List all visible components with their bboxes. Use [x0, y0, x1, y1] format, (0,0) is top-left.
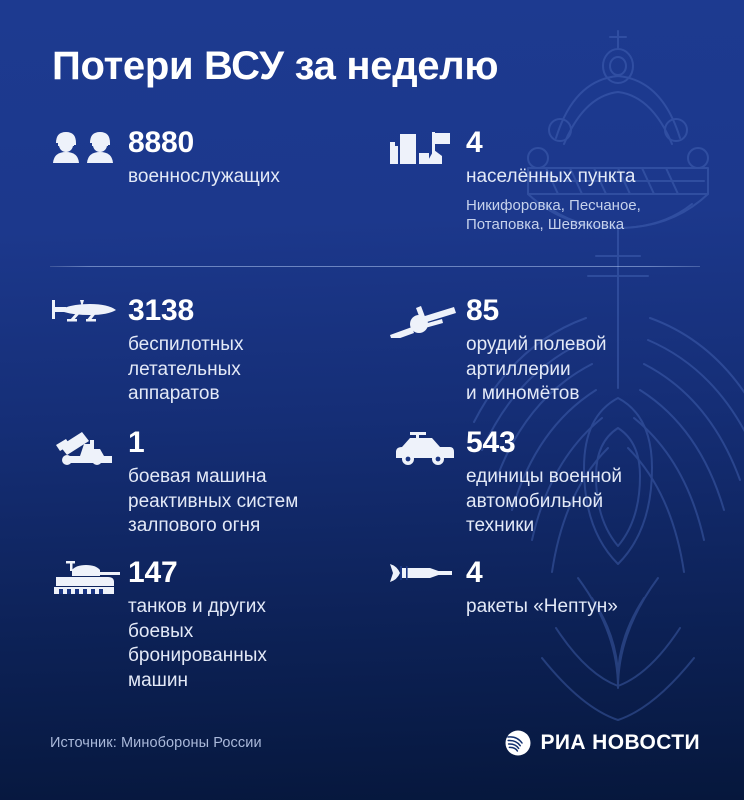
stat-text: 85 орудий полевой артиллерии и миномётов — [466, 296, 607, 407]
stat-vehicles: 543 единицы военной автомобильной техник… — [388, 428, 622, 539]
settlement-names: Никифоровка, Песчаное, Потаповка, Шевяко… — [466, 196, 641, 236]
tank-icon — [50, 558, 128, 598]
stat-value: 543 — [466, 428, 622, 458]
stat-label: танков и других боевых бронированных маш… — [128, 595, 267, 694]
stat-missiles: 4 ракеты «Нептун» — [388, 558, 618, 620]
stat-artillery: 85 орудий полевой артиллерии и миномётов — [388, 296, 607, 407]
two-soldiers-icon — [50, 128, 128, 164]
stat-label: военнослужащих — [128, 165, 280, 190]
page-title: Потери ВСУ за неделю — [52, 44, 498, 88]
stat-mlrs: 1 боевая машина реактивных систем залпов… — [50, 428, 298, 539]
stat-personnel: 8880 военнослужащих — [50, 128, 280, 190]
howitzer-icon — [388, 296, 466, 338]
stat-value: 147 — [128, 558, 267, 588]
stat-value: 1 — [128, 428, 298, 458]
brand-name: РИА НОВОСТИ — [540, 731, 700, 755]
drone-icon — [50, 296, 128, 328]
stat-settlements: 4 населённых пункта Никифоровка, Песчано… — [388, 128, 641, 235]
stat-text: 1 боевая машина реактивных систем залпов… — [128, 428, 298, 539]
stat-text: 147 танков и других боевых бронированных… — [128, 558, 267, 694]
footer: Источник: Минобороны России РИА НОВОСТИ — [50, 730, 700, 756]
stat-value: 4 — [466, 128, 641, 158]
stat-text: 8880 военнослужащих — [128, 128, 280, 190]
stat-label: ракеты «Нептун» — [466, 595, 618, 620]
stat-text: 3138 беспилотных летательных аппаратов — [128, 296, 243, 407]
stat-label: единицы военной автомобильной техники — [466, 465, 622, 539]
rocket-launcher-truck-icon — [50, 428, 128, 466]
stat-text: 543 единицы военной автомобильной техник… — [466, 428, 622, 539]
poster-content: Потери ВСУ за неделю 8880 во — [0, 0, 744, 800]
buildings-flag-icon — [388, 128, 466, 166]
brand-logo: РИА НОВОСТИ — [505, 730, 700, 756]
stat-value: 4 — [466, 558, 618, 588]
source-credit: Источник: Минобороны России — [50, 735, 262, 751]
stat-label: беспилотных летательных аппаратов — [128, 333, 243, 407]
infographic-poster: Потери ВСУ за неделю 8880 во — [0, 0, 744, 800]
stat-label: боевая машина реактивных систем залповог… — [128, 465, 298, 539]
stat-tanks: 147 танков и других боевых бронированных… — [50, 558, 267, 694]
missile-icon — [388, 558, 466, 586]
stat-uav: 3138 беспилотных летательных аппаратов — [50, 296, 243, 407]
stat-value: 85 — [466, 296, 607, 326]
stat-value: 8880 — [128, 128, 280, 158]
stat-label: населённых пункта — [466, 165, 641, 190]
section-divider — [50, 266, 700, 267]
military-jeep-icon — [388, 428, 466, 466]
stat-value: 3138 — [128, 296, 243, 326]
ria-swirl-logo-icon — [505, 730, 531, 756]
stat-text: 4 ракеты «Нептун» — [466, 558, 618, 620]
stat-text: 4 населённых пункта Никифоровка, Песчано… — [466, 128, 641, 235]
stat-label: орудий полевой артиллерии и миномётов — [466, 333, 607, 407]
